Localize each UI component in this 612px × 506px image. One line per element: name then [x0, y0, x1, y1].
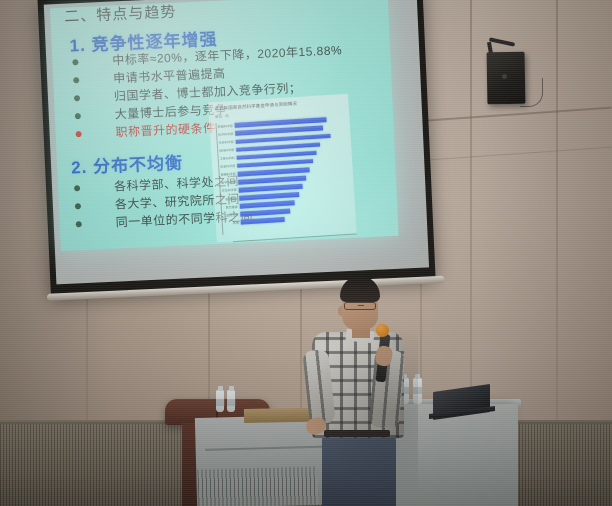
chart-bar [241, 217, 285, 224]
list-item: 归国学者、博士都加入竞争行列； [74, 89, 75, 107]
chart-category-label: 地球科学部 [218, 148, 236, 153]
bullet-dot-highlight-icon [76, 131, 82, 137]
list-item: 各大学、研究院所之间 [75, 197, 76, 215]
chart-category-label: 信息科学部 [219, 164, 237, 169]
presenter-hair [340, 276, 380, 302]
chart-category-label: 医学科学部 [220, 180, 238, 185]
slide-heading-2-number: 2. [71, 158, 88, 178]
water-bottle [227, 390, 235, 412]
chart-plot-area: 数理科学部化学科学部生命科学部地球科学部工程与材料信息科学部管理科学部医学科学部… [215, 115, 350, 235]
presenter-belt [324, 430, 390, 437]
slide-heading-2-text: 分布不均衡 [93, 153, 184, 176]
slide-bullet-group-1: 中标率≈20%，逐年下降，2020年15.88% 申请书水平普遍提高 归国学者、… [72, 53, 76, 143]
bullet-dot-icon [72, 59, 78, 65]
bullet-dot-icon [75, 113, 81, 119]
list-item: 各科学部、科学处之间 [74, 179, 75, 197]
slide-heading-2: 2. 分布不均衡 [71, 148, 184, 178]
chart-category-label: 生命科学部 [218, 140, 236, 145]
projected-slide: 二、特点与趋势 1. 竞争性逐年增强 中标率≈20%，逐年下降，2020年15.… [50, 0, 399, 251]
chart-category-label: 国际合作 [222, 212, 240, 217]
chart-category-label: 化学科学部 [217, 132, 235, 137]
projection-screen: 二、特点与趋势 1. 竞争性逐年增强 中标率≈20%，逐年下降，2020年15.… [37, 0, 435, 295]
slide-bar-chart: 近五年国家自然科学基金申请与资助情况 单位：项 数理科学部化学科学部生命科学部地… [208, 94, 357, 243]
bullet-dot-icon [75, 203, 81, 209]
list-item: 申请书水平普遍提高 [73, 71, 74, 89]
bullet-dot-icon [74, 185, 80, 191]
chart-category-label: 联合基金 [222, 204, 240, 209]
chart-category-label: 管理科学部 [220, 172, 238, 177]
chart-category-label: 工程与材料 [219, 156, 237, 161]
water-bottle [216, 390, 224, 412]
glasses-icon [344, 302, 376, 310]
microphone-head-icon [376, 324, 389, 337]
list-item: 同一单位的不同学科之间 [75, 215, 76, 233]
bullet-dot-icon [76, 221, 82, 227]
presenter [300, 276, 418, 506]
chart-category-label: 交叉科学部 [221, 188, 239, 193]
bullet-dot-icon [73, 77, 79, 83]
list-item: 职称晋升的硬条件 [75, 125, 76, 143]
presenter-trousers [322, 434, 396, 506]
chart-category-label: 数理科学部 [217, 124, 235, 129]
bullet-text-highlight: 职称晋升的硬条件 [115, 119, 216, 141]
slide-heading-1-number: 1. [69, 36, 86, 56]
chart-category-label: 专项项目 [221, 196, 239, 201]
lecture-photo: 二、特点与趋势 1. 竞争性逐年增强 中标率≈20%，逐年下降，2020年15.… [0, 0, 612, 506]
bullet-dot-icon [74, 95, 80, 101]
list-item: 大量博士后参与竞争 [74, 107, 75, 125]
chart-category-label: 其他 [223, 220, 241, 225]
slide-bullet-group-2: 各科学部、科学处之间 各大学、研究院所之间 同一单位的不同学科之间 [74, 179, 76, 233]
